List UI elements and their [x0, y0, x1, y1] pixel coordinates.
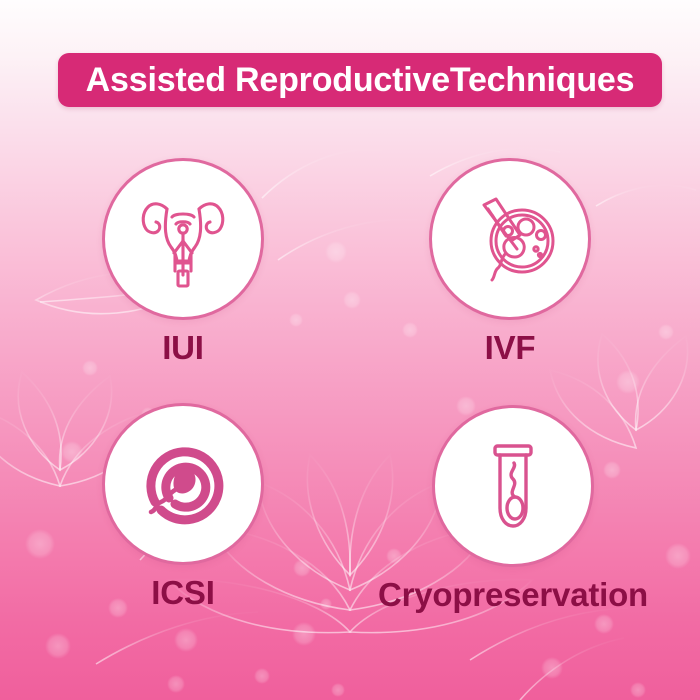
technique-label: Cryopreservation	[348, 578, 678, 613]
technique-label: ICSI	[18, 576, 348, 611]
technique-card-iui[interactable]: IUI	[18, 158, 348, 366]
technique-card-ivf[interactable]: IVF	[345, 158, 675, 366]
technique-card-cryopreservation[interactable]: Cryopreservation	[348, 405, 678, 613]
egg-sperm-injection-icon	[127, 428, 239, 540]
test-tube-sperm-icon	[457, 430, 569, 542]
technique-card-icsi[interactable]: ICSI	[18, 403, 348, 611]
technique-icon-circle	[102, 403, 264, 565]
uterus-catheter-icon	[127, 183, 239, 295]
technique-label: IVF	[345, 331, 675, 366]
technique-icon-circle	[432, 405, 594, 567]
technique-icon-circle	[102, 158, 264, 320]
petri-dish-pipette-icon	[454, 183, 566, 295]
page-title-banner: Assisted ReproductiveTechniques	[58, 53, 662, 107]
page-title: Assisted ReproductiveTechniques	[86, 63, 635, 97]
technique-label: IUI	[18, 331, 348, 366]
technique-icon-circle	[429, 158, 591, 320]
poster-canvas: Assisted ReproductiveTechniques	[0, 0, 700, 700]
